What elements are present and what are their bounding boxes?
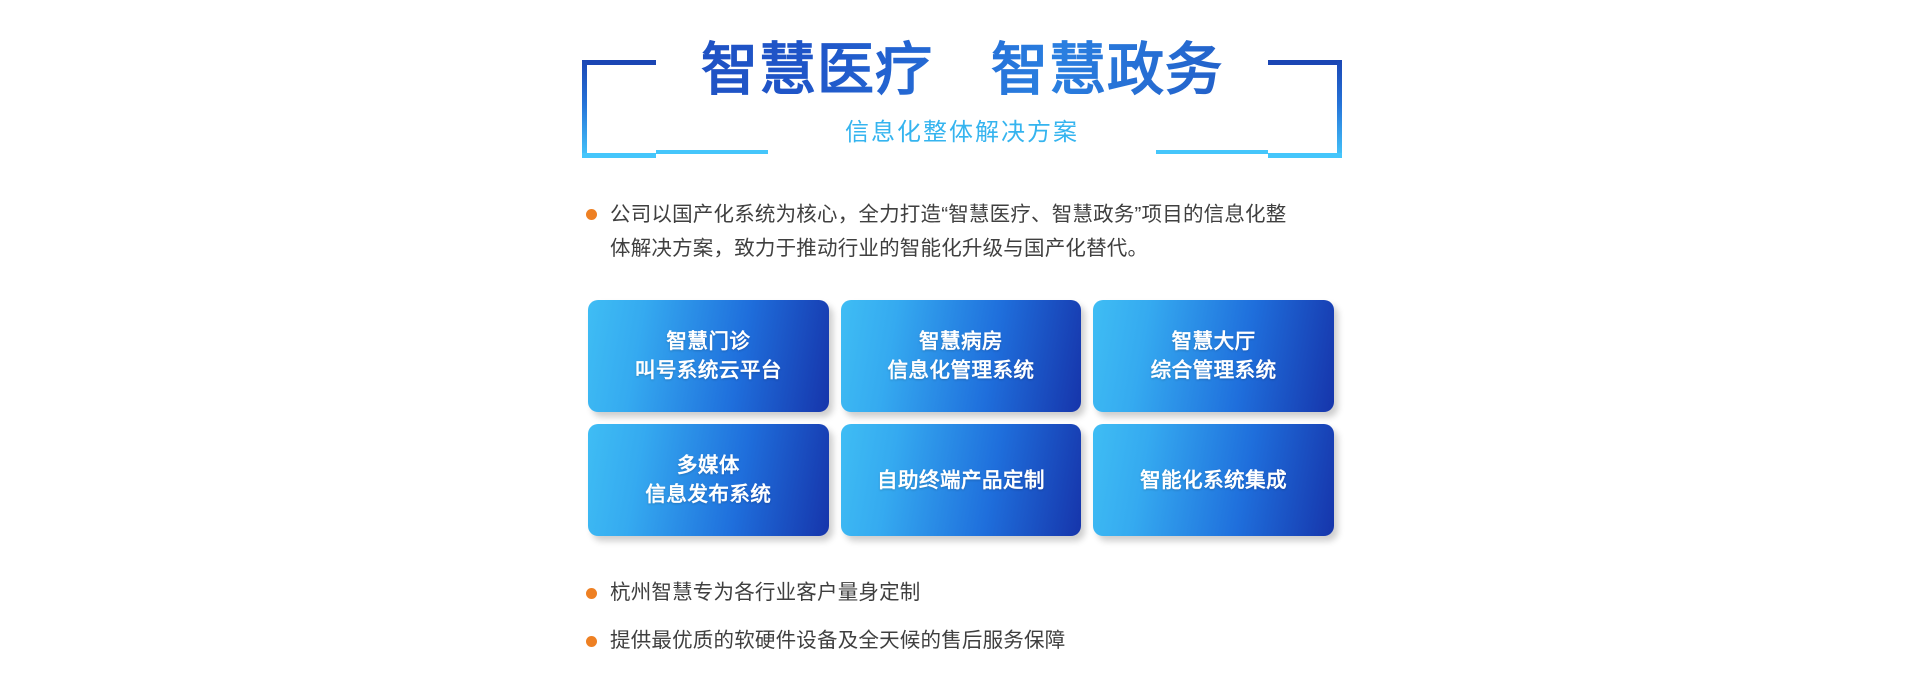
solution-card-grid: 智慧门诊 叫号系统云平台 智慧病房 信息化管理系统 智慧大厅 综合管理系统 多媒… (588, 300, 1334, 536)
page-subtitle: 信息化整体解决方案 (582, 116, 1342, 150)
promo-banner: 智慧医疗 智慧政务 信息化整体解决方案 公司以国产化系统为核心，全力打造“智慧医… (0, 0, 1920, 680)
header-block: 智慧医疗 智慧政务 信息化整体解决方案 (582, 34, 1342, 154)
solution-card[interactable]: 智慧大厅 综合管理系统 (1093, 300, 1334, 412)
solution-card[interactable]: 智能化系统集成 (1093, 424, 1334, 536)
solution-card-label: 多媒体 信息发布系统 (645, 451, 771, 509)
bullet-text: 提供最优质的软硬件设备及全天候的售后服务保障 (610, 626, 1065, 656)
orange-dot-icon (586, 636, 597, 647)
solution-card-label: 智能化系统集成 (1140, 466, 1287, 495)
subtitle-rule-right (1156, 150, 1268, 154)
solution-card-label: 智慧门诊 叫号系统云平台 (635, 327, 782, 385)
bracket-right-bottom-bar (1268, 153, 1342, 158)
subtitle-rule-left (656, 150, 768, 154)
solution-card-label: 智慧大厅 综合管理系统 (1151, 327, 1277, 385)
solution-card-label: 智慧病房 信息化管理系统 (887, 327, 1034, 385)
orange-dot-icon (586, 588, 597, 599)
solution-card[interactable]: 智慧门诊 叫号系统云平台 (588, 300, 829, 412)
solution-card-label: 自助终端产品定制 (877, 466, 1045, 495)
intro-paragraph: 公司以国产化系统为核心，全力打造“智慧医疗、智慧政务”项目的信息化整体解决方案，… (586, 198, 1302, 266)
bracket-left-bottom-bar (582, 153, 656, 158)
list-item: 提供最优质的软硬件设备及全天候的售后服务保障 (586, 626, 1346, 656)
solution-card[interactable]: 智慧病房 信息化管理系统 (841, 300, 1082, 412)
feature-bullet-list: 杭州智慧专为各行业客户量身定制 提供最优质的软硬件设备及全天候的售后服务保障 (586, 578, 1346, 674)
list-item: 杭州智慧专为各行业客户量身定制 (586, 578, 1346, 608)
page-title: 智慧医疗 智慧政务 (582, 34, 1342, 106)
intro-text: 公司以国产化系统为核心，全力打造“智慧医疗、智慧政务”项目的信息化整体解决方案，… (610, 198, 1302, 266)
bullet-text: 杭州智慧专为各行业客户量身定制 (610, 578, 921, 608)
orange-dot-icon (586, 209, 597, 220)
solution-card[interactable]: 多媒体 信息发布系统 (588, 424, 829, 536)
solution-card[interactable]: 自助终端产品定制 (841, 424, 1082, 536)
